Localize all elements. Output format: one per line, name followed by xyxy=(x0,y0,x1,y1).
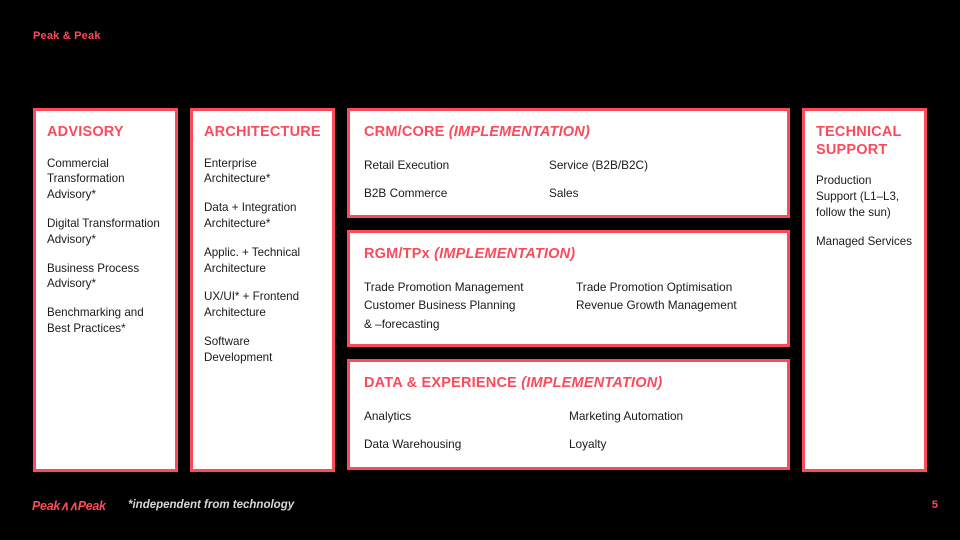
list-item: Revenue Growth Management xyxy=(576,298,773,314)
column-architecture: ARCHITECTURE Enterprise Architecture* Da… xyxy=(190,108,335,472)
list-item: Data Warehousing xyxy=(364,437,569,453)
header-logo: Peak & Peak xyxy=(33,30,101,42)
card-title-rgm-tpx-main: RGM/TPx xyxy=(364,246,434,262)
list-item: Digital Transformation Advisory* xyxy=(47,216,164,248)
technical-support-item-list: Production Support (L1–L3, follow the su… xyxy=(816,173,913,249)
page-number: 5 xyxy=(932,499,938,511)
architecture-item-list: Enterprise Architecture* Data + Integrat… xyxy=(204,156,321,366)
list-item: Marketing Automation xyxy=(569,409,773,425)
list-item: Service (B2B/B2C) xyxy=(549,158,773,174)
footer-footnote: *independent from technology xyxy=(128,499,294,511)
card-title-data-experience-main: DATA & EXPERIENCE xyxy=(364,375,521,391)
list-item: Analytics xyxy=(364,409,569,425)
card-title-advisory: ADVISORY xyxy=(47,124,164,142)
data-experience-items: Analytics Data Warehousing Marketing Aut… xyxy=(364,409,773,453)
list-item: Trade Promotion Management xyxy=(364,280,576,296)
rgm-tpx-left-column: Trade Promotion Management Customer Busi… xyxy=(364,280,576,333)
list-item: Retail Execution xyxy=(364,158,549,174)
list-item: Managed Services xyxy=(816,234,913,250)
card-rgm-tpx: RGM/TPx (IMPLEMENTATION) Trade Promotion… xyxy=(347,230,790,347)
crm-core-right-column: Service (B2B/B2C) Sales xyxy=(549,158,773,202)
card-title-crm-core-sub: (IMPLEMENTATION) xyxy=(449,124,590,140)
column-advisory: ADVISORY Commercial Transformation Advis… xyxy=(33,108,178,472)
data-experience-right-column: Marketing Automation Loyalty xyxy=(569,409,773,453)
card-technical-support: TECHNICAL SUPPORT Production Support (L1… xyxy=(802,108,927,472)
column-implementation: CRM/CORE (IMPLEMENTATION) Retail Executi… xyxy=(347,108,790,472)
rgm-tpx-right-column: Trade Promotion Optimisation Revenue Gro… xyxy=(576,280,773,333)
list-item: Benchmarking and Best Practices* xyxy=(47,305,164,337)
list-item: Commercial Transformation Advisory* xyxy=(47,156,164,203)
card-advisory: ADVISORY Commercial Transformation Advis… xyxy=(33,108,178,472)
card-title-rgm-tpx: RGM/TPx (IMPLEMENTATION) xyxy=(364,246,773,264)
card-title-architecture: ARCHITECTURE xyxy=(204,124,321,142)
card-title-data-experience-sub: (IMPLEMENTATION) xyxy=(521,375,662,391)
rgm-tpx-items: Trade Promotion Management Customer Busi… xyxy=(364,280,773,333)
slide-canvas: Peak & Peak ADVISORY Commercial Transfor… xyxy=(0,0,960,540)
data-experience-left-column: Analytics Data Warehousing xyxy=(364,409,569,453)
list-item: Production Support (L1–L3, follow the su… xyxy=(816,173,913,220)
list-item: Software Development xyxy=(204,334,321,366)
capabilities-board: ADVISORY Commercial Transformation Advis… xyxy=(33,108,927,472)
card-title-rgm-tpx-sub: (IMPLEMENTATION) xyxy=(434,246,575,262)
footer-logo: Peak∧∧Peak xyxy=(32,498,106,513)
list-item: Customer Business Planning xyxy=(364,298,576,314)
column-technical-support: TECHNICAL SUPPORT Production Support (L1… xyxy=(802,108,927,472)
advisory-item-list: Commercial Transformation Advisory* Digi… xyxy=(47,156,164,337)
list-item: Sales xyxy=(549,186,773,202)
crm-core-left-column: Retail Execution B2B Commerce xyxy=(364,158,549,202)
card-crm-core: CRM/CORE (IMPLEMENTATION) Retail Executi… xyxy=(347,108,790,218)
list-item: UX/UI* + Frontend Architecture xyxy=(204,289,321,321)
list-item: B2B Commerce xyxy=(364,186,549,202)
list-item: Applic. + Technical Architecture xyxy=(204,245,321,277)
card-title-crm-core-main: CRM/CORE xyxy=(364,124,449,140)
card-title-technical-support: TECHNICAL SUPPORT xyxy=(816,124,913,159)
list-item: Business Process Advisory* xyxy=(47,261,164,293)
crm-core-items: Retail Execution B2B Commerce Service (B… xyxy=(364,158,773,202)
card-architecture: ARCHITECTURE Enterprise Architecture* Da… xyxy=(190,108,335,472)
list-item: Loyalty xyxy=(569,437,773,453)
card-title-crm-core: CRM/CORE (IMPLEMENTATION) xyxy=(364,124,773,142)
card-title-data-experience: DATA & EXPERIENCE (IMPLEMENTATION) xyxy=(364,375,773,393)
list-item: Data + Integration Architecture* xyxy=(204,200,321,232)
card-data-experience: DATA & EXPERIENCE (IMPLEMENTATION) Analy… xyxy=(347,359,790,470)
list-item: Enterprise Architecture* xyxy=(204,156,321,188)
list-item: & –forecasting xyxy=(364,317,576,333)
list-item: Trade Promotion Optimisation xyxy=(576,280,773,296)
